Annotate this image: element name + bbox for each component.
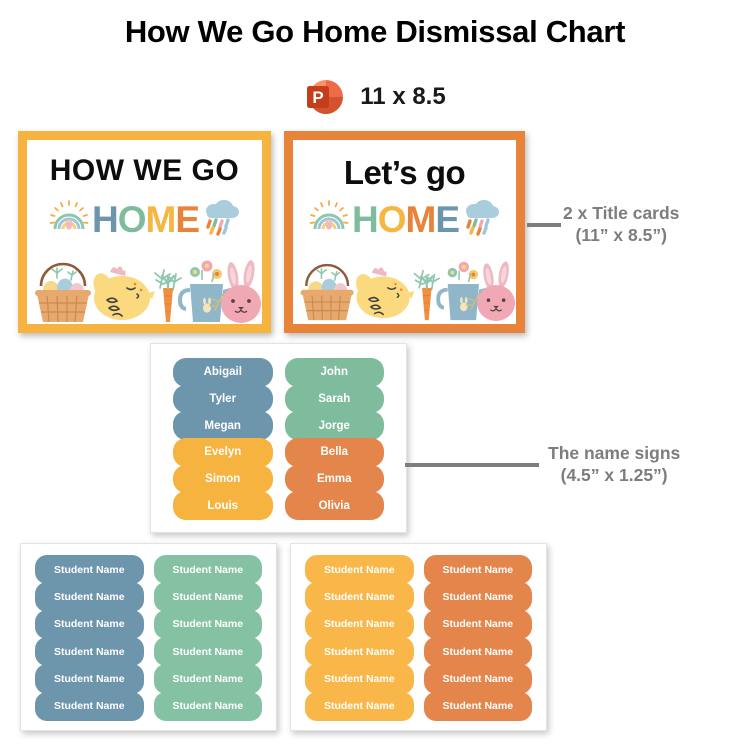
sticker-column-green: Student Name Student Name Student Name S… bbox=[154, 555, 263, 719]
card-inner: Let’s go bbox=[293, 140, 516, 324]
format-size-label: 11 x 8.5 bbox=[360, 83, 445, 111]
sticker-label[interactable]: Student Name bbox=[35, 637, 144, 666]
flowers bbox=[448, 262, 478, 282]
home-word-letters: H O M E bbox=[92, 201, 199, 238]
sticker-label[interactable]: Student Name bbox=[305, 692, 414, 721]
format-row: P 11 x 8.5 bbox=[0, 76, 750, 118]
name-chip[interactable]: Evelyn bbox=[173, 438, 273, 467]
sticker-label[interactable]: Student Name bbox=[305, 637, 414, 666]
home-letter-o: O bbox=[118, 201, 146, 238]
sticker-label[interactable]: Student Name bbox=[154, 637, 263, 666]
sticker-label[interactable]: Student Name bbox=[35, 555, 144, 584]
annotation-title-cards: 2 x Title cards (11” x 8.5”) bbox=[563, 203, 679, 247]
raincloud-icon bbox=[201, 198, 241, 241]
sticker-grid: Student Name Student Name Student Name S… bbox=[305, 555, 532, 719]
name-column-left: Abigail Tyler Megan Evelyn Simon Louis bbox=[173, 358, 273, 518]
home-letter-m: M bbox=[146, 201, 176, 238]
title-card-how-we-go-home[interactable]: HOW WE GO bbox=[18, 131, 271, 333]
chick-icon bbox=[90, 266, 155, 320]
annotation-line-2: (11” x 8.5”) bbox=[563, 225, 679, 247]
sticker-label[interactable]: Student Name bbox=[305, 664, 414, 693]
name-chip[interactable]: Olivia bbox=[285, 491, 385, 520]
sticker-grid: Student Name Student Name Student Name S… bbox=[35, 555, 262, 719]
annotation-line-1: The name signs bbox=[548, 443, 680, 465]
name-chip[interactable]: Emma bbox=[285, 465, 385, 494]
sticker-label[interactable]: Student Name bbox=[424, 555, 533, 584]
sticker-label[interactable]: Student Name bbox=[154, 692, 263, 721]
name-chip[interactable]: Megan bbox=[173, 411, 273, 440]
leader-line-title-cards bbox=[527, 223, 561, 227]
chick-icon bbox=[353, 267, 415, 318]
sticker-label[interactable]: Student Name bbox=[424, 664, 533, 693]
home-row: H O M E bbox=[293, 198, 516, 241]
sticker-label[interactable]: Student Name bbox=[154, 555, 263, 584]
name-chip[interactable]: Jorge bbox=[285, 411, 385, 440]
name-signs-panel[interactable]: Abigail Tyler Megan Evelyn Simon Louis J… bbox=[150, 343, 407, 533]
sticker-label[interactable]: Student Name bbox=[35, 582, 144, 611]
home-row: H O M E bbox=[27, 198, 262, 241]
svg-text:P: P bbox=[313, 88, 324, 107]
name-chip[interactable]: Bella bbox=[285, 438, 385, 467]
name-chip[interactable]: Simon bbox=[173, 465, 273, 494]
home-letter-e: E bbox=[175, 201, 199, 238]
home-letter-e: E bbox=[435, 201, 459, 238]
title-card-lets-go-home[interactable]: Let’s go bbox=[284, 131, 525, 333]
sticker-sheet-cool-colors[interactable]: Student Name Student Name Student Name S… bbox=[20, 543, 277, 731]
home-letter-h: H bbox=[92, 201, 118, 238]
rainbow-icon bbox=[308, 200, 350, 239]
annotation-line-1: 2 x Title cards bbox=[563, 203, 679, 225]
sticker-column-blue: Student Name Student Name Student Name S… bbox=[35, 555, 144, 719]
raincloud-icon bbox=[461, 198, 501, 241]
rainbow-icon bbox=[48, 200, 90, 239]
name-chip[interactable]: Abigail bbox=[173, 358, 273, 387]
name-chip[interactable]: Louis bbox=[173, 491, 273, 520]
name-column-right: John Sarah Jorge Bella Emma Olivia bbox=[285, 358, 385, 518]
sticker-column-orange: Student Name Student Name Student Name S… bbox=[424, 555, 533, 719]
sticker-label[interactable]: Student Name bbox=[154, 582, 263, 611]
card-headline: HOW WE GO bbox=[27, 154, 262, 188]
home-letter-o: O bbox=[378, 201, 406, 238]
home-letter-m: M bbox=[406, 201, 436, 238]
home-word-letters: H O M E bbox=[352, 201, 459, 238]
page-title: How We Go Home Dismissal Chart bbox=[0, 14, 750, 50]
easter-basket-icon bbox=[301, 265, 354, 320]
sticker-label[interactable]: Student Name bbox=[35, 610, 144, 639]
sticker-label[interactable]: Student Name bbox=[154, 610, 263, 639]
leader-line-name-signs bbox=[405, 463, 539, 467]
annotation-line-2: (4.5” x 1.25”) bbox=[548, 465, 680, 487]
sticker-label[interactable]: Student Name bbox=[35, 692, 144, 721]
sticker-label[interactable]: Student Name bbox=[305, 582, 414, 611]
sticker-sheet-warm-colors[interactable]: Student Name Student Name Student Name S… bbox=[290, 543, 547, 731]
sticker-label[interactable]: Student Name bbox=[424, 692, 533, 721]
sticker-label[interactable]: Student Name bbox=[154, 664, 263, 693]
sticker-label[interactable]: Student Name bbox=[305, 555, 414, 584]
annotation-name-signs: The name signs (4.5” x 1.25”) bbox=[548, 443, 680, 487]
sticker-label[interactable]: Student Name bbox=[35, 664, 144, 693]
sticker-column-yellow: Student Name Student Name Student Name S… bbox=[305, 555, 414, 719]
easter-basket-icon bbox=[35, 264, 91, 322]
name-chip[interactable]: John bbox=[285, 358, 385, 387]
name-chip[interactable]: Tyler bbox=[173, 385, 273, 414]
home-letter-h: H bbox=[352, 201, 378, 238]
powerpoint-icon: P bbox=[304, 76, 346, 118]
sticker-label[interactable]: Student Name bbox=[424, 582, 533, 611]
flowers bbox=[190, 261, 222, 283]
card-inner: HOW WE GO bbox=[27, 140, 262, 324]
poster-canvas: How We Go Home Dismissal Chart P 11 x 8.… bbox=[0, 0, 750, 750]
sticker-label[interactable]: Student Name bbox=[424, 637, 533, 666]
sticker-label[interactable]: Student Name bbox=[424, 610, 533, 639]
name-grid: Abigail Tyler Megan Evelyn Simon Louis J… bbox=[173, 358, 384, 518]
sticker-label[interactable]: Student Name bbox=[305, 610, 414, 639]
easter-scene bbox=[293, 246, 516, 324]
easter-scene bbox=[27, 246, 262, 324]
name-chip[interactable]: Sarah bbox=[285, 385, 385, 414]
card-headline: Let’s go bbox=[293, 154, 516, 192]
